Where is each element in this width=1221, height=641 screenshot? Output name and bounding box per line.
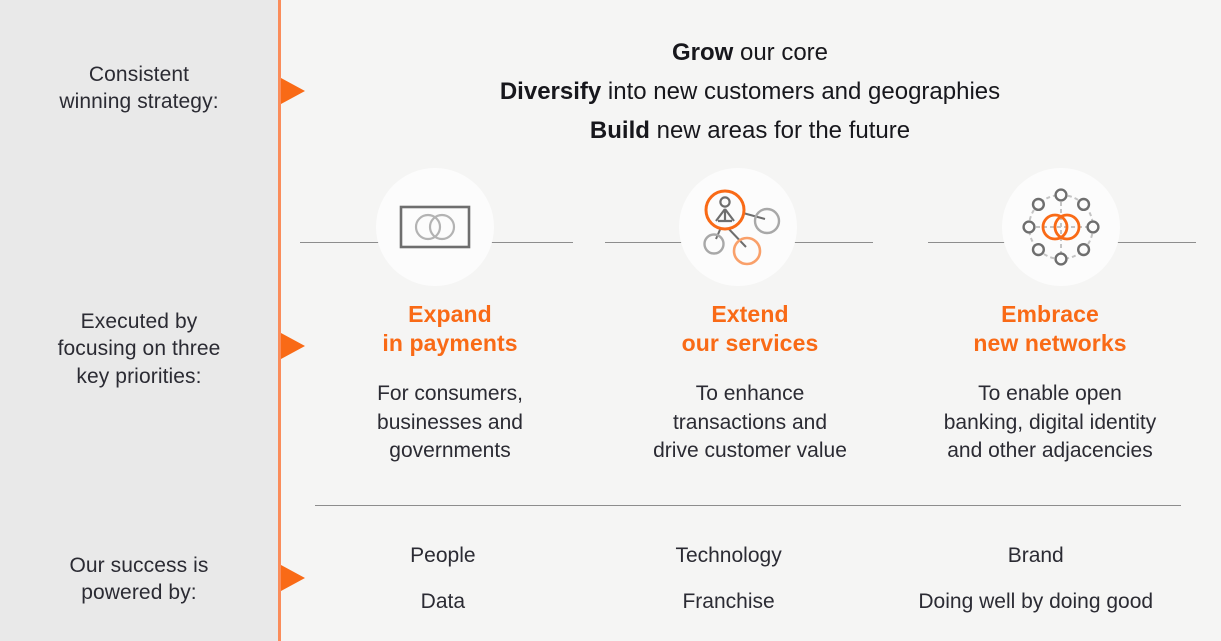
priority-title-embrace: Embracenew networks bbox=[906, 300, 1194, 358]
enabler-item-technology: Technology bbox=[586, 545, 872, 566]
priority-title-extend: Extendour services bbox=[606, 300, 894, 358]
enabler-item-brand: Brand bbox=[871, 545, 1200, 566]
strategy-slide: Consistentwinning strategy: Executed byf… bbox=[0, 0, 1221, 641]
priority-column-expand: Expandin payments For consumers,business… bbox=[300, 300, 600, 465]
enabler-columns: People Data Technology Franchise Brand D… bbox=[300, 545, 1200, 612]
headline-line-grow-bold: Grow bbox=[672, 39, 733, 66]
headline-line-grow-rest: our core bbox=[733, 39, 828, 66]
enabler-item-doing-well: Doing well by doing good bbox=[871, 591, 1200, 612]
priority-description-expand: For consumers,businesses andgovernments bbox=[306, 380, 594, 465]
headline-line-grow: Grow our core bbox=[300, 34, 1200, 73]
enabler-item-people: People bbox=[300, 545, 586, 566]
headline-line-diversify-bold: Diversify bbox=[500, 78, 601, 105]
headline-line-diversify-rest: into new customers and geographies bbox=[601, 78, 1000, 105]
priority-columns: Expandin payments For consumers,business… bbox=[300, 300, 1200, 465]
rail-label-enablers: Our success ispowered by: bbox=[0, 552, 278, 607]
rail-label-strategy: Consistentwinning strategy: bbox=[0, 61, 278, 116]
icon-band bbox=[300, 168, 1196, 286]
headline: Grow our core Diversify into new custome… bbox=[300, 34, 1200, 151]
priority-description-extend: To enhancetransactions anddrive customer… bbox=[606, 380, 894, 465]
enabler-column-people: People Data bbox=[300, 545, 586, 612]
headline-line-build-bold: Build bbox=[590, 117, 650, 144]
enabler-column-brand: Brand Doing well by doing good bbox=[871, 545, 1200, 612]
priority-column-extend: Extendour services To enhancetransaction… bbox=[600, 300, 900, 465]
priority-title-expand: Expandin payments bbox=[306, 300, 594, 358]
priority-column-embrace: Embracenew networks To enable openbankin… bbox=[900, 300, 1200, 465]
enabler-item-franchise: Franchise bbox=[586, 591, 872, 612]
footer-divider bbox=[315, 505, 1181, 506]
headline-line-build-rest: new areas for the future bbox=[650, 117, 910, 144]
rail-label-priorities: Executed byfocusing on threekey prioriti… bbox=[0, 308, 278, 390]
enabler-column-technology: Technology Franchise bbox=[586, 545, 872, 612]
enabler-item-data: Data bbox=[300, 591, 586, 612]
payment-card-icon bbox=[376, 168, 494, 286]
person-network-icon bbox=[679, 168, 797, 286]
headline-line-build: Build new areas for the future bbox=[300, 112, 1200, 151]
open-network-icon bbox=[1002, 168, 1120, 286]
priority-description-embrace: To enable openbanking, digital identitya… bbox=[906, 380, 1194, 465]
headline-line-diversify: Diversify into new customers and geograp… bbox=[300, 73, 1200, 112]
